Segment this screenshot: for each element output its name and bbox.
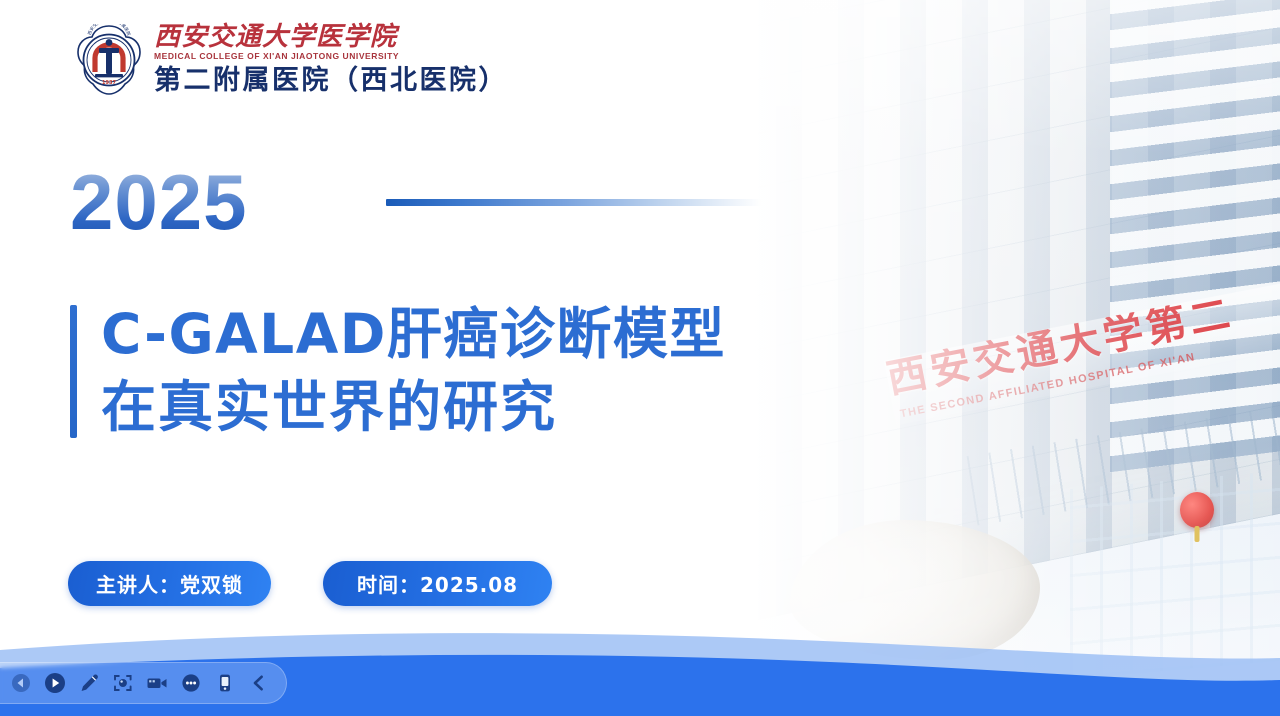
hospital-photo-image: 西安交通大学第二 THE SECOND AFFILIATED HOSPITAL …: [640, 0, 1280, 690]
chevron-left-icon: [249, 673, 269, 693]
circle-play-icon: [44, 672, 66, 694]
logo-university-name-en: MEDICAL COLLEGE OF XI'AN JIAOTONG UNIVER…: [154, 52, 508, 61]
title-lines: C-GALAD肝癌诊断模型 在真实世界的研究: [101, 305, 726, 438]
more-dots-icon: [180, 672, 202, 694]
year-label: 2025: [70, 163, 248, 241]
video-camera-icon: [145, 672, 169, 694]
svg-text:1937: 1937: [102, 80, 116, 86]
previous-slide-button[interactable]: 上一页: [4, 666, 38, 700]
speaker-pill[interactable]: 主讲人：党双锁: [68, 561, 271, 606]
building-right-tower: [1110, 0, 1280, 472]
slideshow-toolbar[interactable]: 上一页 播放 画笔 聚光灯: [0, 662, 287, 704]
gradient-divider: [386, 199, 761, 206]
meta-pills: 主讲人：党双锁 时间：2025.08: [68, 561, 552, 606]
record-button[interactable]: 录制: [140, 666, 174, 700]
more-button[interactable]: 更多: [174, 666, 208, 700]
phone-remote-button[interactable]: 手机遥控: [208, 666, 242, 700]
building-entrance: [1070, 471, 1280, 679]
stone-monument: [790, 520, 1040, 660]
title-accent-bar: [70, 305, 77, 438]
presentation-slide: 西安交通大学第二 THE SECOND AFFILIATED HOSPITAL …: [0, 0, 1280, 716]
laser-focus-button[interactable]: 聚光灯: [106, 666, 140, 700]
year-row: 2025: [70, 163, 761, 241]
logo-text-block: 西安交通大学医学院 MEDICAL COLLEGE OF XI'AN JIAOT…: [154, 24, 508, 97]
play-button[interactable]: 播放: [38, 666, 72, 700]
hospital-logo: 1937 西安交通大学第二附属医院 西安交通大学医学院 MEDICAL COLL…: [74, 24, 508, 97]
red-lantern-icon: [1180, 492, 1214, 528]
date-pill[interactable]: 时间：2025.08: [323, 561, 552, 606]
title-block: C-GALAD肝癌诊断模型 在真实世界的研究: [70, 305, 726, 438]
pen-button[interactable]: 画笔: [72, 666, 106, 700]
scan-focus-icon: [112, 672, 134, 694]
title-line-1: C-GALAD肝癌诊断模型: [101, 305, 726, 364]
xjtu-seal-icon: 1937 西安交通大学第二附属医院: [74, 24, 144, 96]
title-line-2: 在真实世界的研究: [101, 378, 726, 437]
logo-university-name: 西安交通大学医学院: [154, 24, 508, 50]
mobile-phone-icon: [214, 672, 236, 694]
hospital-photo: 西安交通大学第二 THE SECOND AFFILIATED HOSPITAL …: [640, 0, 1280, 690]
pencil-icon: [78, 672, 100, 694]
collapse-toolbar-button[interactable]: 收起: [242, 666, 276, 700]
logo-hospital-name: 第二附属医院（西北医院）: [154, 66, 508, 96]
circle-left-arrow-icon: [11, 673, 31, 693]
